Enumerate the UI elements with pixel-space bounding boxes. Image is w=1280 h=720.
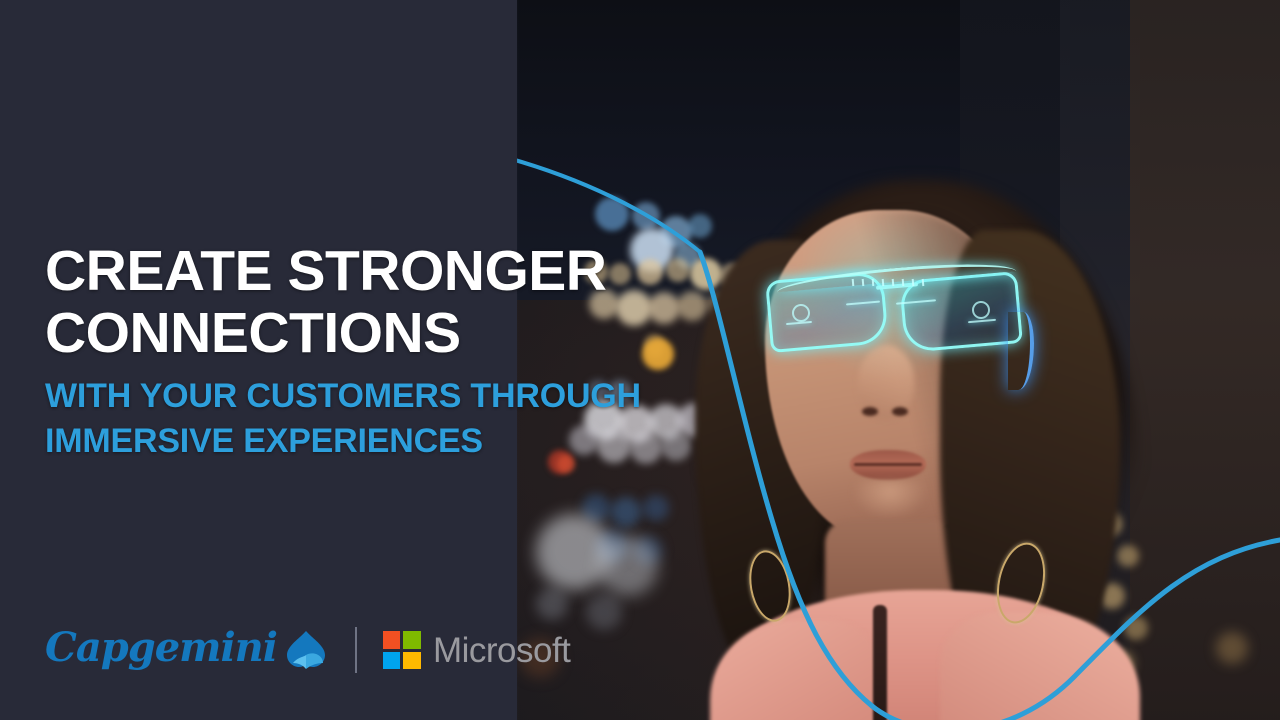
vertical-divider — [355, 627, 357, 673]
subheadline-line-2: IMMERSIVE EXPERIENCES — [45, 419, 685, 464]
microsoft-logo[interactable]: Microsoft — [383, 631, 570, 669]
capgemini-wordmark: Capgemini — [45, 628, 277, 668]
capgemini-logo[interactable]: Capgemini — [45, 627, 329, 673]
ms-square-blue — [383, 652, 401, 670]
ms-square-red — [383, 631, 401, 649]
microsoft-wordmark: Microsoft — [433, 633, 570, 668]
headline-line-1: CREATE STRONGER — [45, 240, 685, 302]
capgemini-spade-icon — [283, 627, 329, 673]
microsoft-four-square-icon — [383, 631, 421, 669]
logo-lockup: Capgemini Microsoft — [45, 615, 570, 685]
banner-slide: CREATE STRONGER CONNECTIONS WITH YOUR CU… — [0, 0, 1280, 720]
ms-square-green — [403, 631, 421, 649]
subheadline-line-1: WITH YOUR CUSTOMERS THROUGH — [45, 374, 685, 419]
ms-square-yellow — [403, 652, 421, 670]
headline-block: CREATE STRONGER CONNECTIONS WITH YOUR CU… — [45, 240, 685, 464]
headline-line-2: CONNECTIONS — [45, 302, 685, 364]
